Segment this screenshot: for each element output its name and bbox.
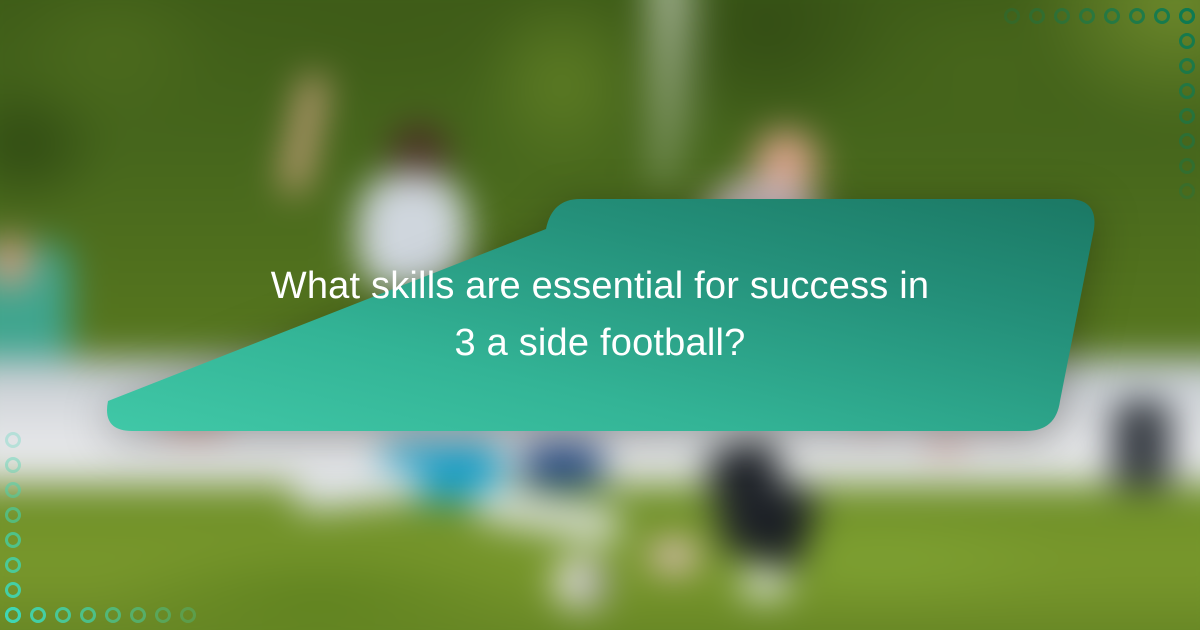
decorative-dot (1179, 158, 1195, 174)
decorative-dot (1179, 58, 1195, 74)
goal-post-left (651, 0, 677, 187)
pitch-grass (0, 485, 1200, 630)
social-card-canvas: What skills are essential for success in… (0, 0, 1200, 630)
decorative-dot (1029, 8, 1045, 24)
player-dark-far-right (1112, 400, 1172, 490)
decorative-dot (1079, 8, 1095, 24)
decorative-dot (5, 532, 21, 548)
player-navy-shorts (523, 443, 603, 487)
decorative-dot (105, 607, 121, 623)
decorative-dot (5, 482, 21, 498)
decorative-dot (5, 607, 21, 623)
goal-post-right (683, 0, 697, 145)
decorative-dot (5, 507, 21, 523)
player-boot-white (741, 571, 789, 597)
decorative-dot (1129, 8, 1145, 24)
decorative-dot (1179, 133, 1195, 149)
decorative-dot (5, 557, 21, 573)
decorative-dot (5, 582, 21, 598)
decorative-dot (1154, 8, 1170, 24)
decorative-dot (1179, 183, 1195, 199)
decorative-dot (5, 457, 21, 473)
decorative-dot (155, 607, 171, 623)
decorative-dot (1179, 8, 1195, 24)
decorative-dot (1004, 8, 1020, 24)
question-text: What skills are essential for success in… (270, 258, 930, 372)
decorative-dot (80, 607, 96, 623)
decorative-dot (130, 607, 146, 623)
decorative-dot (1179, 83, 1195, 99)
board-red-block-right (926, 429, 966, 455)
decorative-dot (1104, 8, 1120, 24)
decorative-dot (55, 607, 71, 623)
decorative-dot (5, 432, 21, 448)
decorative-dot (1054, 8, 1070, 24)
decorative-dot (1179, 108, 1195, 124)
question-text-block: What skills are essential for success in… (100, 199, 1100, 431)
player-boot-pink (651, 542, 697, 570)
decorative-dot (180, 607, 196, 623)
football-ball-panel (581, 571, 607, 595)
decorative-dot (1179, 33, 1195, 49)
decorative-dot (30, 607, 46, 623)
